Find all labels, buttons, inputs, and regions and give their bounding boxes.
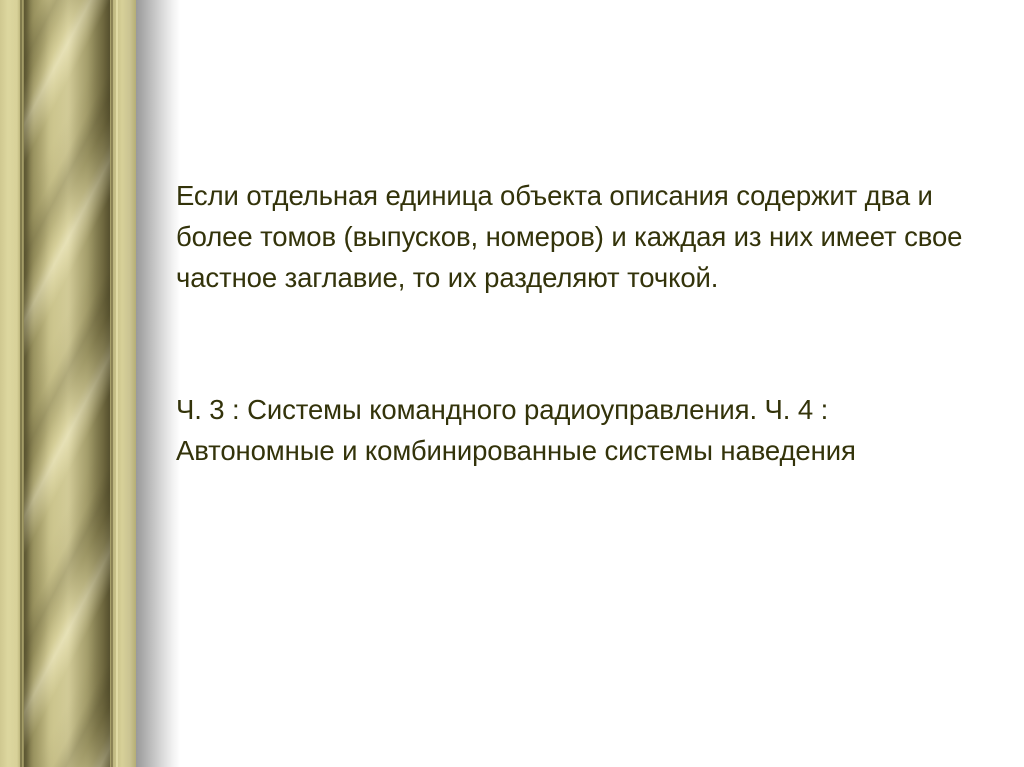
slide-content: Если отдельная единица объекта описания … bbox=[176, 0, 1000, 767]
column-groove-line-right bbox=[111, 0, 113, 767]
body-paragraph-example: Ч. 3 : Системы командного радиоуправлени… bbox=[176, 389, 994, 471]
presentation-slide: Если отдельная единица объекта описания … bbox=[0, 0, 1024, 767]
column-volume-shading bbox=[24, 0, 110, 767]
column-drop-shadow bbox=[136, 0, 180, 767]
body-paragraph-rule: Если отдельная единица объекта описания … bbox=[176, 175, 994, 298]
decorative-gold-column bbox=[0, 0, 136, 767]
column-highlight-line bbox=[116, 0, 118, 767]
column-groove-line-left bbox=[20, 0, 22, 767]
